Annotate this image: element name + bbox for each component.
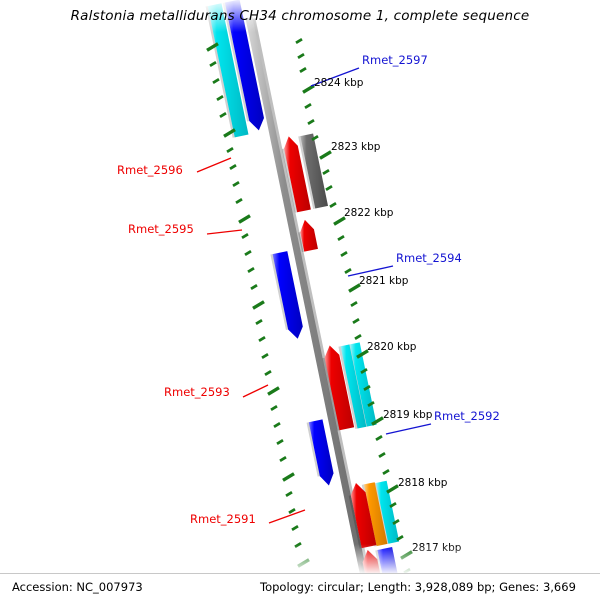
coordinate-tick-major [253,302,264,309]
coordinate-tick-minor [277,440,283,444]
coordinate-tick-minor [292,526,298,530]
coordinate-tick-minor [248,268,254,272]
coordinate-tick-minor [376,436,382,440]
coordinate-tick-major [239,216,250,223]
coordinate-label: 2819 kbp [383,409,432,421]
coordinate-tick-minor [351,302,357,306]
coordinate-tick-minor [227,148,233,152]
coordinate-tick-minor [230,165,236,169]
feature-blue-2592[interactable] [309,419,334,485]
accession-text: Accession: NC_007973 [12,580,143,594]
coordinate-label: 2818 kbp [398,477,447,489]
gene-label-rmet_2596[interactable]: Rmet_2596 [117,163,183,177]
coordinate-tick-minor [256,320,262,324]
coordinate-tick-minor [330,203,336,207]
gene-label-rmet_2597[interactable]: Rmet_2597 [362,53,428,67]
coordinate-label: 2820 kbp [367,341,416,353]
coordinate-tick-minor [338,236,344,240]
coordinate-tick-minor [308,120,314,124]
coordinate-label: 2822 kbp [344,207,393,219]
coordinate-tick-minor [251,285,257,289]
coordinate-tick-minor [300,68,306,72]
coordinate-tick-minor [217,96,223,100]
coordinate-label: 2817 kbp [412,542,461,554]
coordinate-tick-minor [298,54,304,58]
gene-label-rmet_2594[interactable]: Rmet_2594 [396,251,462,265]
coordinate-tick-minor [353,319,359,323]
coordinate-tick-minor [236,199,242,203]
coordinate-tick-minor [242,234,248,238]
coordinate-label: 2824 kbp [314,77,363,89]
coordinate-tick-minor [265,371,271,375]
coordinate-tick-minor [305,104,311,108]
coordinate-tick-minor [271,406,277,410]
genome-map-canvas[interactable] [0,0,600,600]
coordinate-tick-minor [210,62,216,66]
coordinate-tick-minor [383,470,389,474]
gene-label-rmet_2593[interactable]: Rmet_2593 [164,385,230,399]
coordinate-tick-major [401,552,412,559]
coordinate-label: 2821 kbp [359,275,408,287]
coordinate-tick-minor [280,457,286,461]
leader-line-rmet_2595 [207,230,242,234]
coordinate-tick-major [298,560,309,567]
coordinate-tick-minor [296,39,302,43]
coordinate-tick-minor [220,113,226,117]
gene-label-rmet_2592[interactable]: Rmet_2592 [434,409,500,423]
coordinate-tick-minor [355,335,361,339]
coordinate-tick-minor [245,251,251,255]
coordinate-tick-major [303,86,314,93]
coordinate-tick-minor [326,186,332,190]
coordinate-tick-minor [295,543,301,547]
coordinate-tick-minor [233,182,239,186]
gene-label-rmet_2591[interactable]: Rmet_2591 [190,512,256,526]
coordinate-label: 2823 kbp [331,141,380,153]
coordinate-tick-major [268,388,279,395]
coordinate-tick-minor [289,509,295,513]
coordinate-tick-minor [274,423,280,427]
genome-map-viewer[interactable]: Ralstonia metallidurans CH34 chromosome … [0,0,600,600]
coordinate-tick-minor [345,269,351,273]
leader-line-rmet_2592 [386,424,431,434]
coordinate-tick-minor [286,492,292,496]
coordinate-tick-major [283,474,294,481]
coordinate-tick-major [320,152,331,159]
leader-line-rmet_2591 [269,510,305,523]
coordinate-tick-minor [379,453,385,457]
status-bar: Accession: NC_007973 Topology: circular;… [0,573,600,600]
sequence-meta-text: Topology: circular; Length: 3,928,089 bp… [260,580,576,594]
gene-label-rmet_2595[interactable]: Rmet_2595 [128,222,194,236]
coordinate-tick-minor [262,354,268,358]
coordinate-tick-minor [213,79,219,83]
coordinate-tick-major [387,486,398,493]
leader-line-rmet_2593 [243,385,268,397]
coordinate-tick-minor [323,170,329,174]
coordinate-tick-minor [259,337,265,341]
coordinate-tick-minor [341,252,347,256]
leader-line-rmet_2596 [197,158,231,172]
